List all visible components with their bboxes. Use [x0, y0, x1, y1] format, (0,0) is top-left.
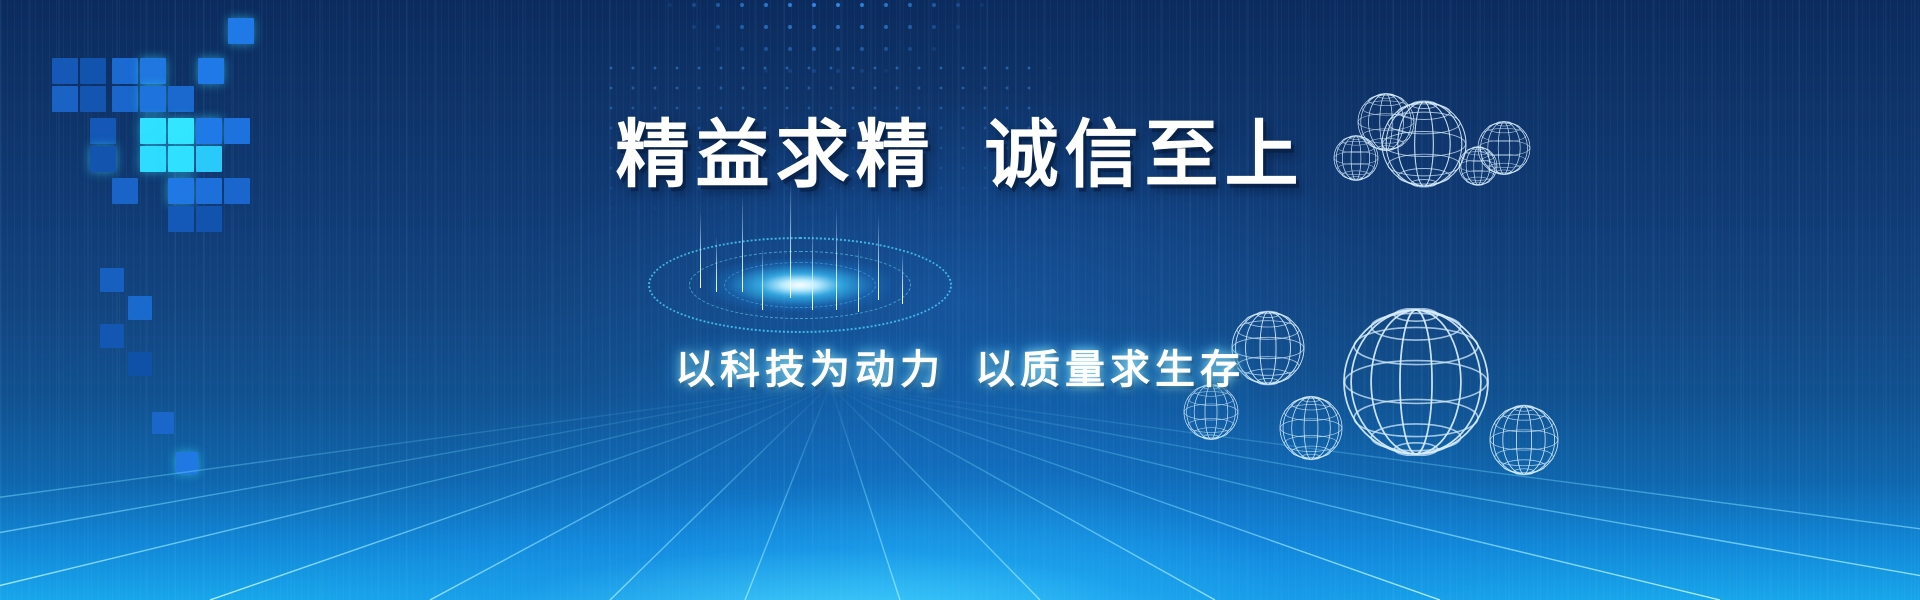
- mosaic-block: [140, 58, 166, 84]
- light-streak: [700, 210, 701, 288]
- mosaic-block: [168, 206, 194, 232]
- light-streak: [902, 252, 903, 304]
- mosaic-block: [198, 58, 224, 84]
- glowing-light-ring: [620, 210, 980, 360]
- mosaic-block: [196, 206, 222, 232]
- light-streak: [858, 244, 859, 312]
- mosaic-block: [100, 268, 124, 292]
- light-streak: [716, 236, 717, 292]
- perspective-grid-floor: [0, 385, 1920, 600]
- hero-banner: 精益求精 诚信至上 以科技为动力 以质量求生存: [0, 0, 1920, 600]
- light-streak: [742, 196, 743, 292]
- light-streak: [878, 214, 879, 300]
- light-streak: [762, 246, 763, 310]
- light-streak: [836, 206, 837, 310]
- mosaic-block: [80, 58, 106, 84]
- light-core-glow: [710, 259, 890, 311]
- mosaic-block: [128, 296, 152, 320]
- page-subtitle: 以科技为动力 以质量求生存: [0, 339, 1920, 401]
- light-streak: [812, 228, 813, 310]
- grid-lines: [0, 385, 1920, 600]
- mosaic-block: [112, 58, 138, 84]
- mosaic-block: [228, 18, 254, 44]
- page-title: 精益求精 诚信至上: [0, 109, 1920, 203]
- mosaic-block: [52, 58, 78, 84]
